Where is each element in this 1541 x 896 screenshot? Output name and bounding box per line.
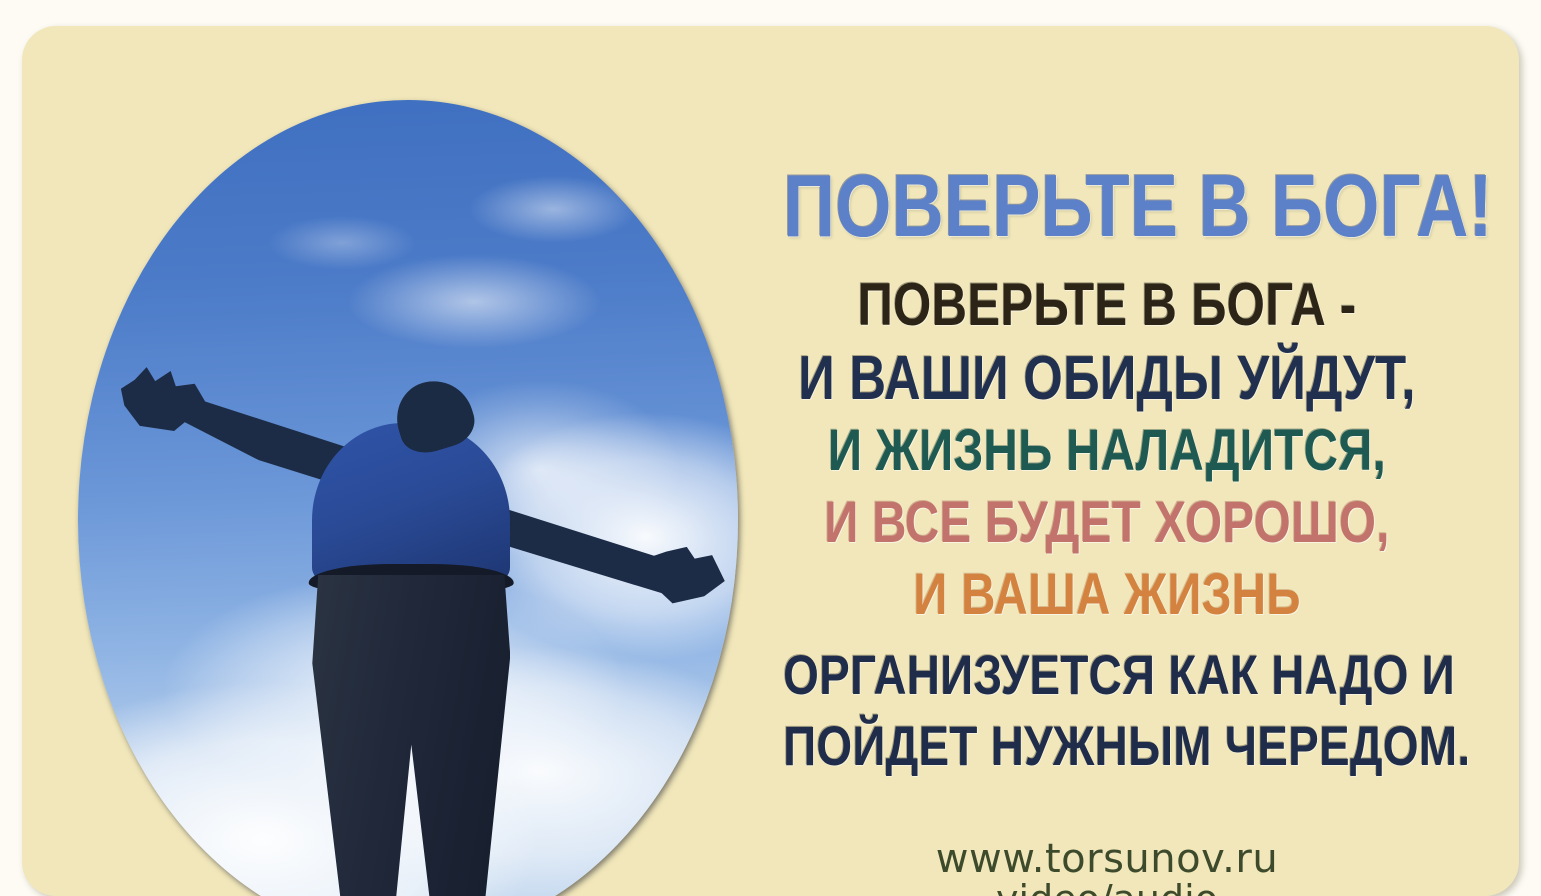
website-url-second-line[interactable]: video/audio [712, 880, 1502, 896]
photo-oval [78, 100, 738, 896]
quote-text-column: ПОВЕРЬТЕ В БОГА! ПОВЕРЬТЕ В БОГА - И ВАШ… [712, 26, 1502, 896]
trousers [312, 575, 510, 896]
quote-line-5: И ВАША ЖИЗНЬ [783, 566, 1431, 624]
website-url[interactable]: www.torsunov.ru [712, 838, 1502, 880]
man-silhouette [78, 100, 738, 896]
quote-line-2: И ВАШИ ОБИДЫ УЙДУТ, [783, 348, 1431, 410]
poster-title: ПОВЕРЬТЕ В БОГА! [783, 162, 1431, 250]
poster-card: ПОВЕРЬТЕ В БОГА! ПОВЕРЬТЕ В БОГА - И ВАШ… [22, 26, 1519, 896]
quote-line-3: И ЖИЗНЬ НАЛАДИТСЯ, [783, 422, 1431, 480]
quote-line-7: ПОЙДЕТ НУЖНЫМ ЧЕРЕДОМ. [783, 718, 1431, 774]
quote-line-1: ПОВЕРЬТЕ В БОГА - [783, 275, 1431, 335]
right-arm [487, 503, 685, 604]
website-credit[interactable]: www.torsunov.ru video/audio [712, 838, 1502, 896]
quote-line-6: ОРГАНИЗУЕТСЯ КАК НАДО И [783, 647, 1431, 703]
quote-line-4: И ВСЕ БУДЕТ ХОРОШО, [783, 494, 1431, 552]
